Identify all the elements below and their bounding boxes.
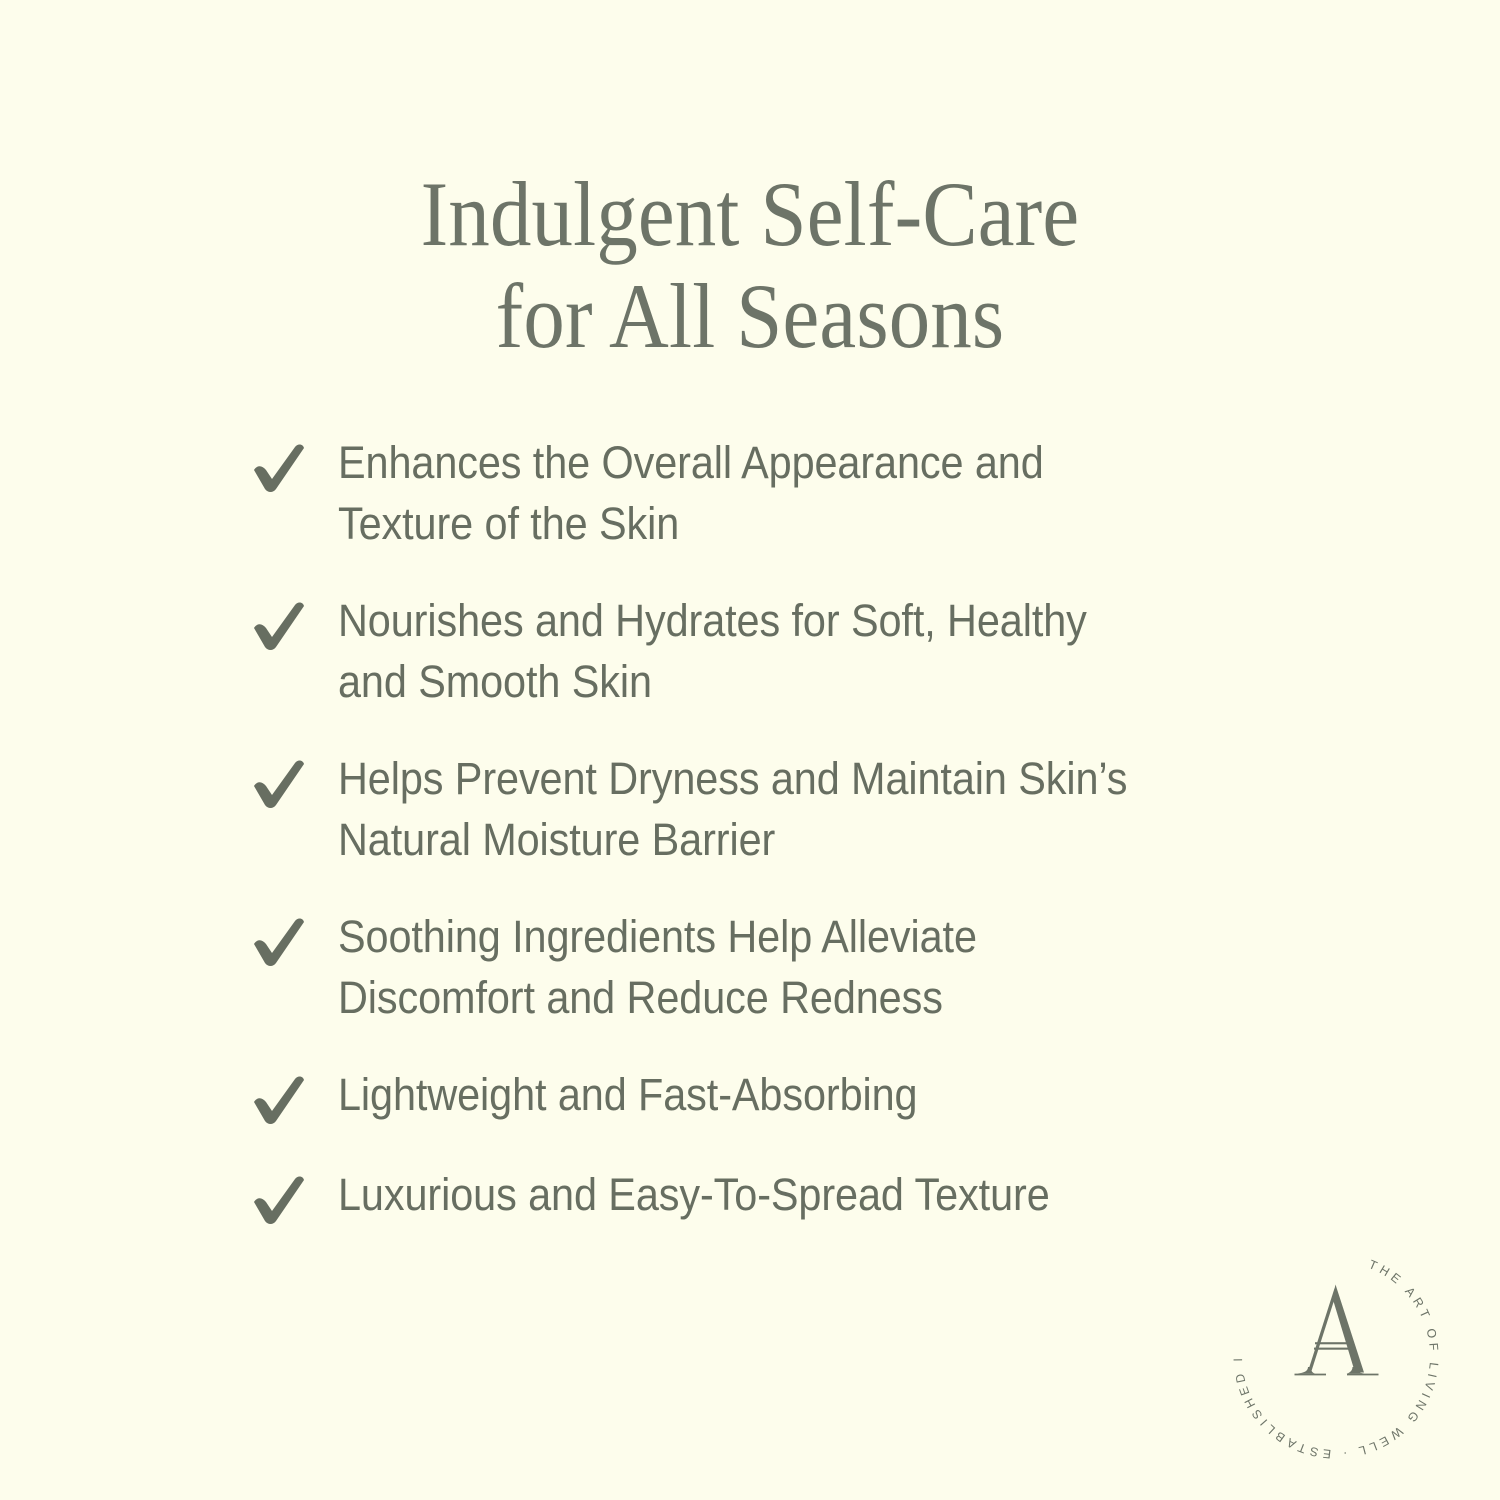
list-item-label: Nourishes and Hydrates for Soft, Healthy… bbox=[338, 590, 1140, 712]
check-icon bbox=[250, 1072, 308, 1128]
check-icon bbox=[250, 914, 308, 970]
list-item: Soothing Ingredients Help Alleviate Disc… bbox=[250, 906, 1210, 1028]
promo-card: Indulgent Self-Care for All Seasons Enha… bbox=[0, 0, 1500, 1500]
list-item: Helps Prevent Dryness and Maintain Skin’… bbox=[250, 748, 1210, 870]
brand-logo-badge: THE ART OF LIVING WELL · ESTABLISHED IN … bbox=[1222, 1242, 1450, 1470]
check-icon bbox=[250, 1172, 308, 1228]
list-item-label: Helps Prevent Dryness and Maintain Skin’… bbox=[338, 748, 1140, 870]
title-line-2: for All Seasons bbox=[75, 265, 1425, 367]
benefits-list: Enhances the Overall Appearance and Text… bbox=[250, 432, 1210, 1228]
list-item-label: Soothing Ingredients Help Alleviate Disc… bbox=[338, 906, 1140, 1028]
check-icon bbox=[250, 598, 308, 654]
list-item: Lightweight and Fast-Absorbing bbox=[250, 1064, 1210, 1128]
check-icon bbox=[250, 756, 308, 812]
check-icon bbox=[250, 440, 308, 496]
logo-circular-text: THE ART OF LIVING WELL · ESTABLISHED IN … bbox=[1222, 1242, 1441, 1461]
logo-svg: THE ART OF LIVING WELL · ESTABLISHED IN … bbox=[1222, 1242, 1450, 1470]
title-line-1: Indulgent Self-Care bbox=[75, 163, 1425, 265]
list-item-label: Luxurious and Easy-To-Spread Texture bbox=[338, 1164, 1140, 1225]
page-title: Indulgent Self-Care for All Seasons bbox=[0, 163, 1500, 367]
list-item-label: Enhances the Overall Appearance and Text… bbox=[338, 432, 1140, 554]
list-item-label: Lightweight and Fast-Absorbing bbox=[338, 1064, 1140, 1125]
list-item: Nourishes and Hydrates for Soft, Healthy… bbox=[250, 590, 1210, 712]
logo-monogram-a bbox=[1295, 1285, 1379, 1376]
list-item: Luxurious and Easy-To-Spread Texture bbox=[250, 1164, 1210, 1228]
list-item: Enhances the Overall Appearance and Text… bbox=[250, 432, 1210, 554]
